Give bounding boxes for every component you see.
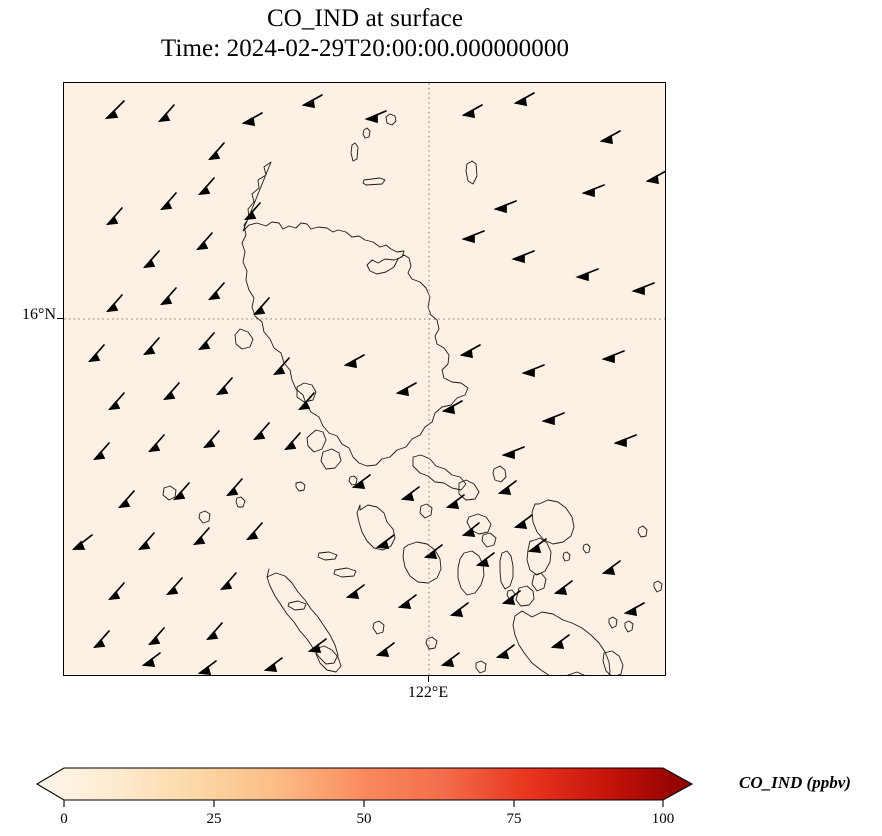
colorbar-ticks [64,800,663,807]
colorbar-tick-label-0: 0 [60,811,68,827]
tick-mark-lon-122e [428,676,429,682]
map-canvas [64,83,666,676]
colorbar-tick-label-75: 75 [507,811,522,827]
title-variable-line: CO_IND at surface [0,4,730,34]
gridlines-layer [64,83,666,676]
axis-label-longitude-122e: 122°E [408,684,448,702]
map-plot-area[interactable] [63,82,666,676]
tick-mark-lat-16n [57,318,63,319]
colorbar-tick-label-25: 25 [207,811,222,827]
axis-label-latitude-16n: 16°N [22,306,56,324]
colorbar-axis-label: CO_IND (ppbv) [739,773,851,793]
colorbar-gradient-bar [37,768,692,800]
colorbar-tick-label-50: 50 [357,811,372,827]
figure-title: CO_IND at surface Time: 2024-02-29T20:00… [0,4,730,63]
colorbar-tick-label-100: 100 [652,811,675,827]
coastlines-layer [163,114,662,676]
wind-quiver-layer [74,93,666,674]
title-time-line: Time: 2024-02-29T20:00:00.000000000 [0,34,730,64]
